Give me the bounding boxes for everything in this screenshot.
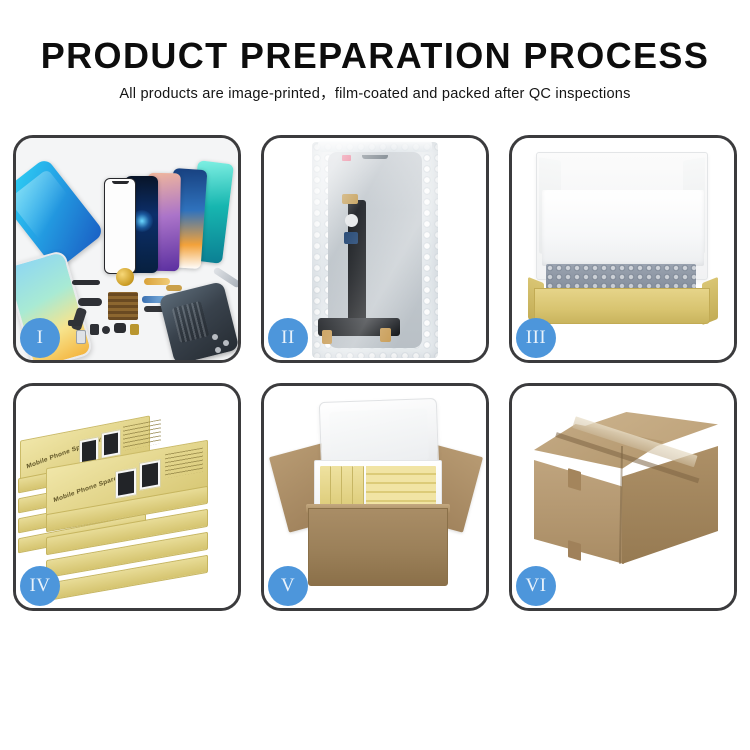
step-badge-4: IV: [20, 566, 60, 606]
small-component-3: [114, 323, 126, 333]
small-component-4: [130, 324, 139, 335]
page-header: PRODUCT PREPARATION PROCESS All products…: [0, 0, 750, 104]
white-foam-liner: [542, 190, 704, 266]
flex-cable-dark-d: [71, 307, 87, 331]
yellow-box-front: [534, 288, 710, 324]
step-badge-3: III: [516, 318, 556, 358]
flex-cable-dark-c: [78, 298, 102, 306]
carton-tab-upper: [568, 468, 581, 491]
foam-lined-box: [526, 148, 720, 338]
step-badge-5: V: [268, 566, 308, 606]
earpiece-speaker-part: [72, 280, 100, 285]
small-component-1: [90, 324, 99, 335]
connector-grid-part: [108, 292, 138, 320]
bag-light-reflection: [312, 142, 438, 358]
process-step-2[interactable]: II: [261, 135, 489, 363]
bubble-wrap-package: [312, 142, 438, 358]
small-component-2: [102, 326, 110, 334]
flex-cable-gold-a: [144, 278, 170, 285]
box-window-1b: [101, 429, 121, 459]
retail-box-stack: Mobile Phone Spare Parts Mobile Phone Sp…: [18, 410, 238, 596]
process-row-bottom: Mobile Phone Spare Parts Mobile Phone Sp…: [0, 383, 750, 611]
carton-tab-lower: [568, 540, 581, 561]
flex-cable-gold-b: [166, 285, 182, 291]
sim-tray-part: [76, 330, 86, 344]
box-spec-lines-2: [165, 448, 203, 479]
process-step-grid: I: [0, 135, 750, 631]
process-step-1[interactable]: I: [13, 135, 241, 363]
step-badge-2: II: [268, 318, 308, 358]
step-badge-1: I: [20, 318, 60, 358]
page-subtitle: All products are image-printed，film-coat…: [0, 84, 750, 104]
box-window-2b: [139, 459, 161, 491]
step-badge-6: VI: [516, 566, 556, 606]
vibration-coil-part: [116, 268, 134, 286]
box-spec-lines-1: [123, 419, 161, 450]
process-step-4[interactable]: Mobile Phone Spare Parts Mobile Phone Sp…: [13, 383, 241, 611]
carton-front-panel: [308, 508, 448, 586]
process-step-5[interactable]: V: [261, 383, 489, 611]
page-title: PRODUCT PREPARATION PROCESS: [0, 36, 750, 76]
process-step-6[interactable]: VI: [509, 383, 737, 611]
box-window-2a: [115, 467, 137, 499]
tempered-glass-screen-protector: [104, 178, 136, 274]
screws-group: [212, 334, 238, 354]
small-component-5: [68, 320, 82, 326]
phone-lineup: [88, 162, 228, 272]
open-shipping-carton: [278, 400, 474, 596]
process-step-3[interactable]: III: [509, 135, 737, 363]
sealed-shipping-carton: [534, 412, 718, 582]
carton-face-right: [622, 446, 718, 564]
process-row-top: I: [0, 135, 750, 363]
